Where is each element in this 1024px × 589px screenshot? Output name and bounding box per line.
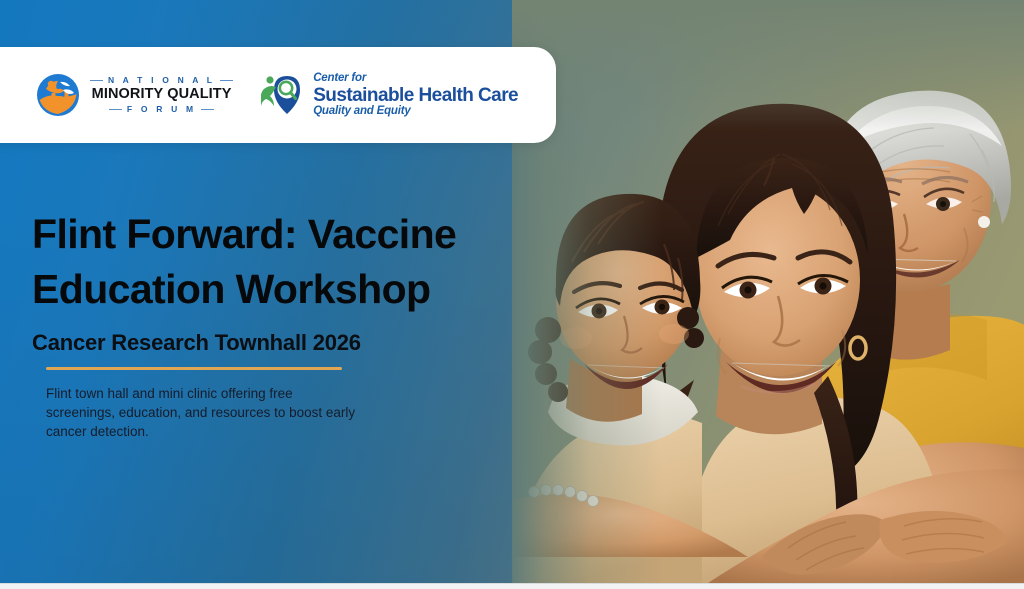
nmqf-rule-left-2 [109, 109, 122, 110]
nmqf-line-minority-quality: MINORITY QUALITY [92, 87, 232, 102]
content-block: Flint Forward: Vaccine Education Worksho… [32, 207, 552, 442]
family-photo [512, 0, 1024, 583]
nmqf-line-national: N A T I O N A L [108, 76, 215, 85]
cshc-wordmark: Center for Sustainable Health Care Quali… [313, 73, 518, 117]
description-text: Flint town hall and mini clinic offering… [46, 384, 356, 441]
nmqf-rule-right-2 [201, 109, 214, 110]
logo-card: N A T I O N A L MINORITY QUALITY F O R U… [0, 47, 556, 143]
cshc-line-quality-and-equity: Quality and Equity [313, 106, 518, 118]
nmqf-rule-right [220, 80, 233, 81]
page-subtitle: Cancer Research Townhall 2026 [32, 330, 552, 356]
logo-nmqf[interactable]: N A T I O N A L MINORITY QUALITY F O R U… [36, 73, 233, 117]
nmqf-wordmark: N A T I O N A L MINORITY QUALITY F O R U… [90, 76, 233, 114]
logo-cshc[interactable]: Center for Sustainable Health Care Quali… [261, 72, 518, 118]
cshc-line-sustainable-health-care: Sustainable Health Care [313, 86, 518, 105]
cshc-line-center-for: Center for [313, 73, 518, 85]
nmqf-line-forum: F O R U M [127, 105, 196, 114]
location-pin-magnifier-icon [261, 72, 305, 118]
accent-divider [46, 367, 342, 370]
bottom-strip [0, 583, 1024, 589]
event-banner: N A T I O N A L MINORITY QUALITY F O R U… [0, 0, 1024, 589]
nmqf-rule-left [90, 80, 103, 81]
globe-bar-chart-icon [36, 73, 80, 117]
page-title: Flint Forward: Vaccine Education Worksho… [32, 207, 552, 316]
